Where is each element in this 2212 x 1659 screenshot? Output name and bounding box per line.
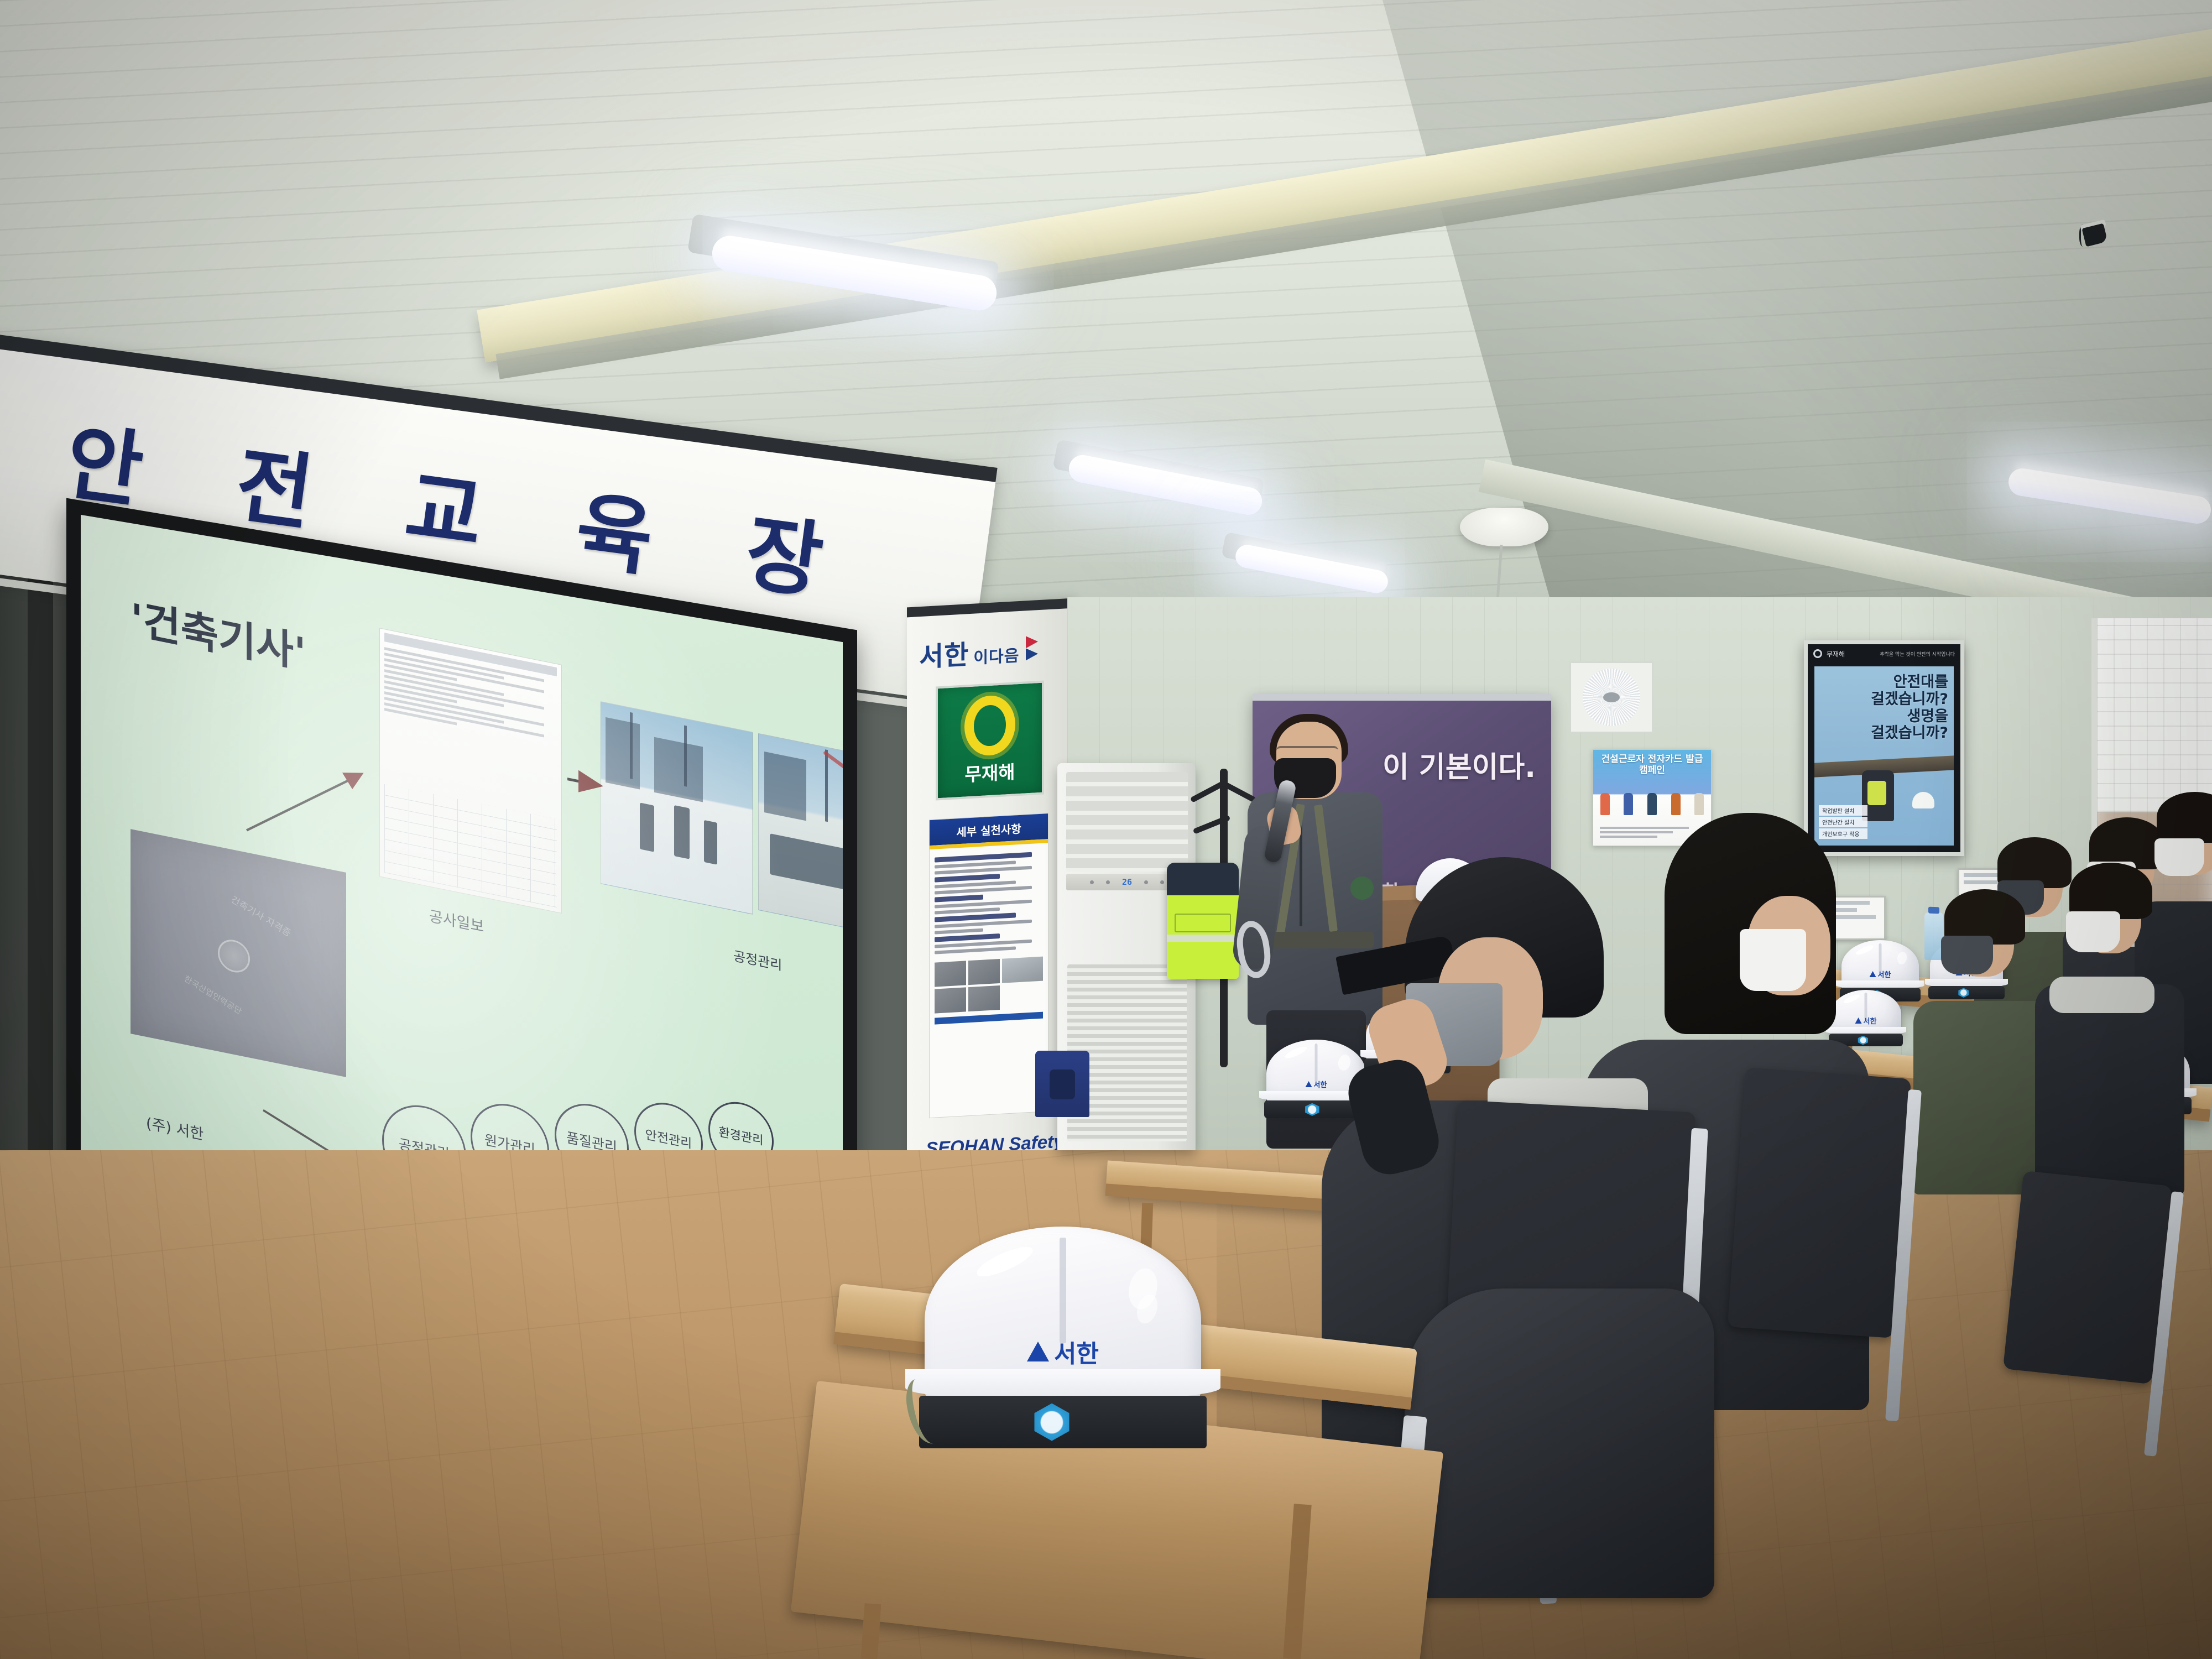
electronic-card-poster-title: 건설근로자 전자카드 발급 캠페인 [1593, 750, 1711, 776]
smoke-detector-icon [1460, 508, 1548, 546]
helmet-logo: 서한 [1870, 969, 1891, 979]
zero-accident-label: 무재해 [964, 757, 1015, 786]
poster-line-3: 생명을 [1871, 708, 1948, 726]
safety-notice-board: 세부 실천사항 [929, 813, 1048, 1118]
poster-brand-icon [1813, 649, 1822, 658]
chair-front-2[interactable] [1405, 1288, 1747, 1659]
seohan-brand-logo: 서한 이다음 [919, 629, 1042, 674]
poster-line-2: 걸겠습니까? [1871, 691, 1948, 708]
presenter-glasses-icon [1276, 746, 1338, 757]
chair-middle-1[interactable] [1736, 1073, 1936, 1493]
poster-brand-label: 무재해 [1827, 649, 1845, 659]
chair-back-right[interactable] [2013, 1178, 2195, 1521]
security-camera-icon [2079, 221, 2118, 252]
brand-main-text: 서한 [919, 633, 969, 674]
brand-triangle-icon [1026, 635, 1042, 662]
attendee-middle-2 [2035, 841, 2184, 1194]
blue-plastic-stool [1035, 1051, 1089, 1117]
zero-accident-icon [964, 694, 1015, 757]
poster-top-strip: 추락을 막는 것이 안전의 시작입니다 [1880, 650, 1955, 658]
sign-char-5: 장 [739, 486, 832, 615]
sign-char-4: 육 [570, 463, 662, 592]
zero-accident-sign: 무재해 [936, 681, 1044, 801]
safety-training-room-photo: 안 전 교 육 장 '건축기사' 건축기사 자격증 한국산업인력공단 [0, 0, 2212, 1659]
brand-sub-text: 이다음 [973, 643, 1019, 669]
poster-line-4: 걸겠습니까? [1871, 725, 1948, 742]
ventilation-fan-icon [1569, 661, 1653, 733]
poster-line-1: 안전대를 [1871, 674, 1948, 691]
sign-char-3: 교 [399, 440, 492, 570]
hero-helmet-logo: 서한 [1027, 1334, 1099, 1369]
ac-temperature-value: 26 [1122, 877, 1132, 887]
foreground-hero-helmet: 서한 [925, 1227, 1201, 1415]
hi-vis-safety-vest [1167, 863, 1239, 979]
